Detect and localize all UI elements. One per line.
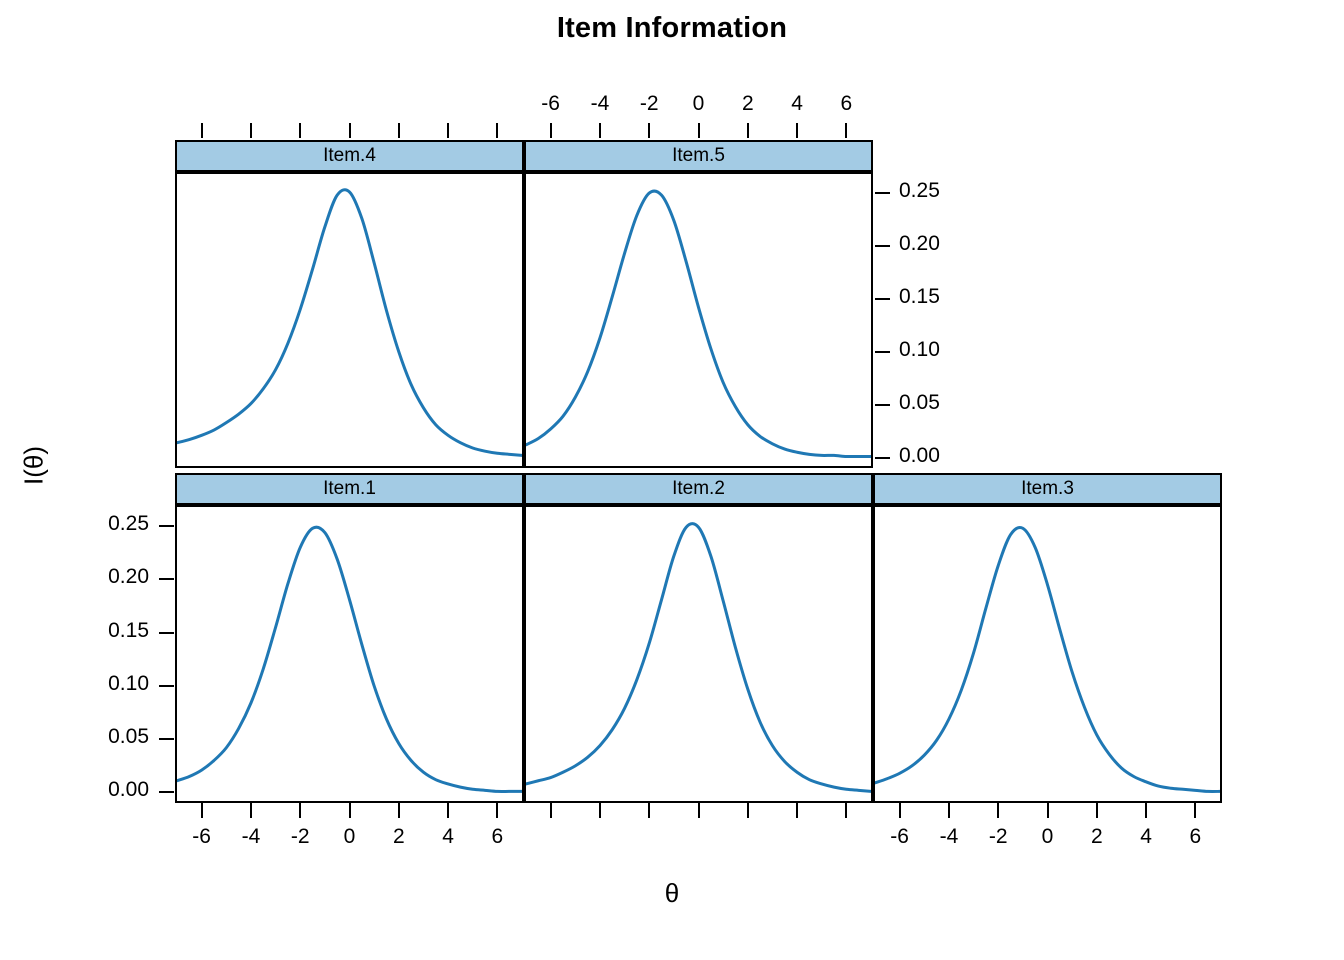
x-tick-bottom <box>1194 803 1196 818</box>
y-tick-right <box>875 192 890 194</box>
x-tick-top <box>496 123 498 138</box>
y-tick-right <box>875 457 890 459</box>
x-tick-bottom <box>1145 803 1147 818</box>
x-tick-top <box>250 123 252 138</box>
x-axis-label: θ <box>0 878 1344 909</box>
panel-item-5 <box>524 172 873 468</box>
information-curve-item-3 <box>875 507 1220 801</box>
x-tick-bottom <box>796 803 798 818</box>
x-tick-label-bottom: 6 <box>492 825 504 849</box>
y-tick-label-right: 0.10 <box>899 338 940 362</box>
y-tick-label-right: 0.20 <box>899 232 940 256</box>
x-tick-label-top: -6 <box>541 92 560 116</box>
x-tick-label-bottom: -6 <box>192 825 211 849</box>
y-tick-left <box>159 738 174 740</box>
strip-label: Item.1 <box>323 478 376 500</box>
y-tick-label-left: 0.00 <box>108 778 149 802</box>
strip-header-item-1: Item.1 <box>175 473 524 505</box>
panel-item-4 <box>175 172 524 468</box>
x-tick-bottom <box>299 803 301 818</box>
y-tick-left <box>159 632 174 634</box>
panel-item-3 <box>873 505 1222 803</box>
x-tick-bottom <box>1047 803 1049 818</box>
x-tick-label-top: 2 <box>742 92 754 116</box>
information-curve-item-2 <box>526 507 871 801</box>
x-tick-top <box>201 123 203 138</box>
x-tick-top <box>845 123 847 138</box>
information-curve-item-5 <box>526 174 871 466</box>
x-tick-top <box>550 123 552 138</box>
x-tick-label-top: 6 <box>841 92 853 116</box>
x-tick-label-bottom: -2 <box>989 825 1008 849</box>
y-tick-left <box>159 791 174 793</box>
strip-header-item-5: Item.5 <box>524 140 873 172</box>
x-tick-bottom <box>349 803 351 818</box>
x-tick-bottom <box>648 803 650 818</box>
strip-label: Item.5 <box>672 145 725 167</box>
strip-label: Item.3 <box>1021 478 1074 500</box>
x-tick-bottom <box>447 803 449 818</box>
x-tick-bottom <box>398 803 400 818</box>
x-tick-label-bottom: 4 <box>442 825 454 849</box>
strip-header-item-3: Item.3 <box>873 473 1222 505</box>
x-tick-top <box>398 123 400 138</box>
y-tick-label-right: 0.00 <box>899 444 940 468</box>
y-tick-right <box>875 245 890 247</box>
panel-item-1 <box>175 505 524 803</box>
y-tick-left <box>159 525 174 527</box>
item-information-plot: Item Information I(θ) θ Item.4Item.5Item… <box>0 0 1344 960</box>
x-tick-bottom <box>1096 803 1098 818</box>
x-tick-top <box>299 123 301 138</box>
y-tick-label-right: 0.05 <box>899 391 940 415</box>
information-curve-item-4 <box>177 174 522 466</box>
x-tick-label-bottom: 0 <box>344 825 356 849</box>
x-tick-label-top: -4 <box>591 92 610 116</box>
strip-label: Item.4 <box>323 145 376 167</box>
y-tick-label-left: 0.20 <box>108 565 149 589</box>
strip-label: Item.2 <box>672 478 725 500</box>
y-tick-label-right: 0.15 <box>899 285 940 309</box>
information-curve-item-1 <box>177 507 522 801</box>
x-tick-bottom <box>845 803 847 818</box>
x-tick-label-top: -2 <box>640 92 659 116</box>
x-tick-label-bottom: 6 <box>1190 825 1202 849</box>
x-tick-label-bottom: -4 <box>940 825 959 849</box>
x-tick-label-bottom: -2 <box>291 825 310 849</box>
x-tick-bottom <box>948 803 950 818</box>
y-tick-label-right: 0.25 <box>899 179 940 203</box>
y-tick-label-left: 0.05 <box>108 725 149 749</box>
x-tick-top <box>349 123 351 138</box>
page-title: Item Information <box>0 12 1344 45</box>
x-tick-top <box>747 123 749 138</box>
x-tick-label-bottom: -4 <box>242 825 261 849</box>
y-tick-right <box>875 351 890 353</box>
x-tick-label-top: 4 <box>791 92 803 116</box>
x-tick-top <box>648 123 650 138</box>
x-tick-bottom <box>201 803 203 818</box>
x-tick-label-bottom: 4 <box>1140 825 1152 849</box>
x-tick-top <box>796 123 798 138</box>
x-tick-bottom <box>698 803 700 818</box>
y-tick-right <box>875 404 890 406</box>
x-tick-bottom <box>496 803 498 818</box>
strip-header-item-4: Item.4 <box>175 140 524 172</box>
x-tick-top <box>447 123 449 138</box>
x-tick-label-bottom: 2 <box>1091 825 1103 849</box>
x-tick-bottom <box>899 803 901 818</box>
x-tick-label-bottom: 2 <box>393 825 405 849</box>
y-tick-right <box>875 298 890 300</box>
x-tick-bottom <box>550 803 552 818</box>
x-tick-bottom <box>997 803 999 818</box>
y-tick-label-left: 0.10 <box>108 672 149 696</box>
strip-header-item-2: Item.2 <box>524 473 873 505</box>
y-tick-left <box>159 685 174 687</box>
panel-item-2 <box>524 505 873 803</box>
x-tick-bottom <box>250 803 252 818</box>
x-tick-top <box>698 123 700 138</box>
x-tick-label-top: 0 <box>693 92 705 116</box>
x-tick-top <box>599 123 601 138</box>
y-tick-left <box>159 578 174 580</box>
y-tick-label-left: 0.15 <box>108 619 149 643</box>
x-tick-label-bottom: -6 <box>890 825 909 849</box>
x-tick-bottom <box>599 803 601 818</box>
y-tick-label-left: 0.25 <box>108 512 149 536</box>
x-tick-label-bottom: 0 <box>1042 825 1054 849</box>
x-tick-bottom <box>747 803 749 818</box>
y-axis-label: I(θ) <box>19 416 50 516</box>
